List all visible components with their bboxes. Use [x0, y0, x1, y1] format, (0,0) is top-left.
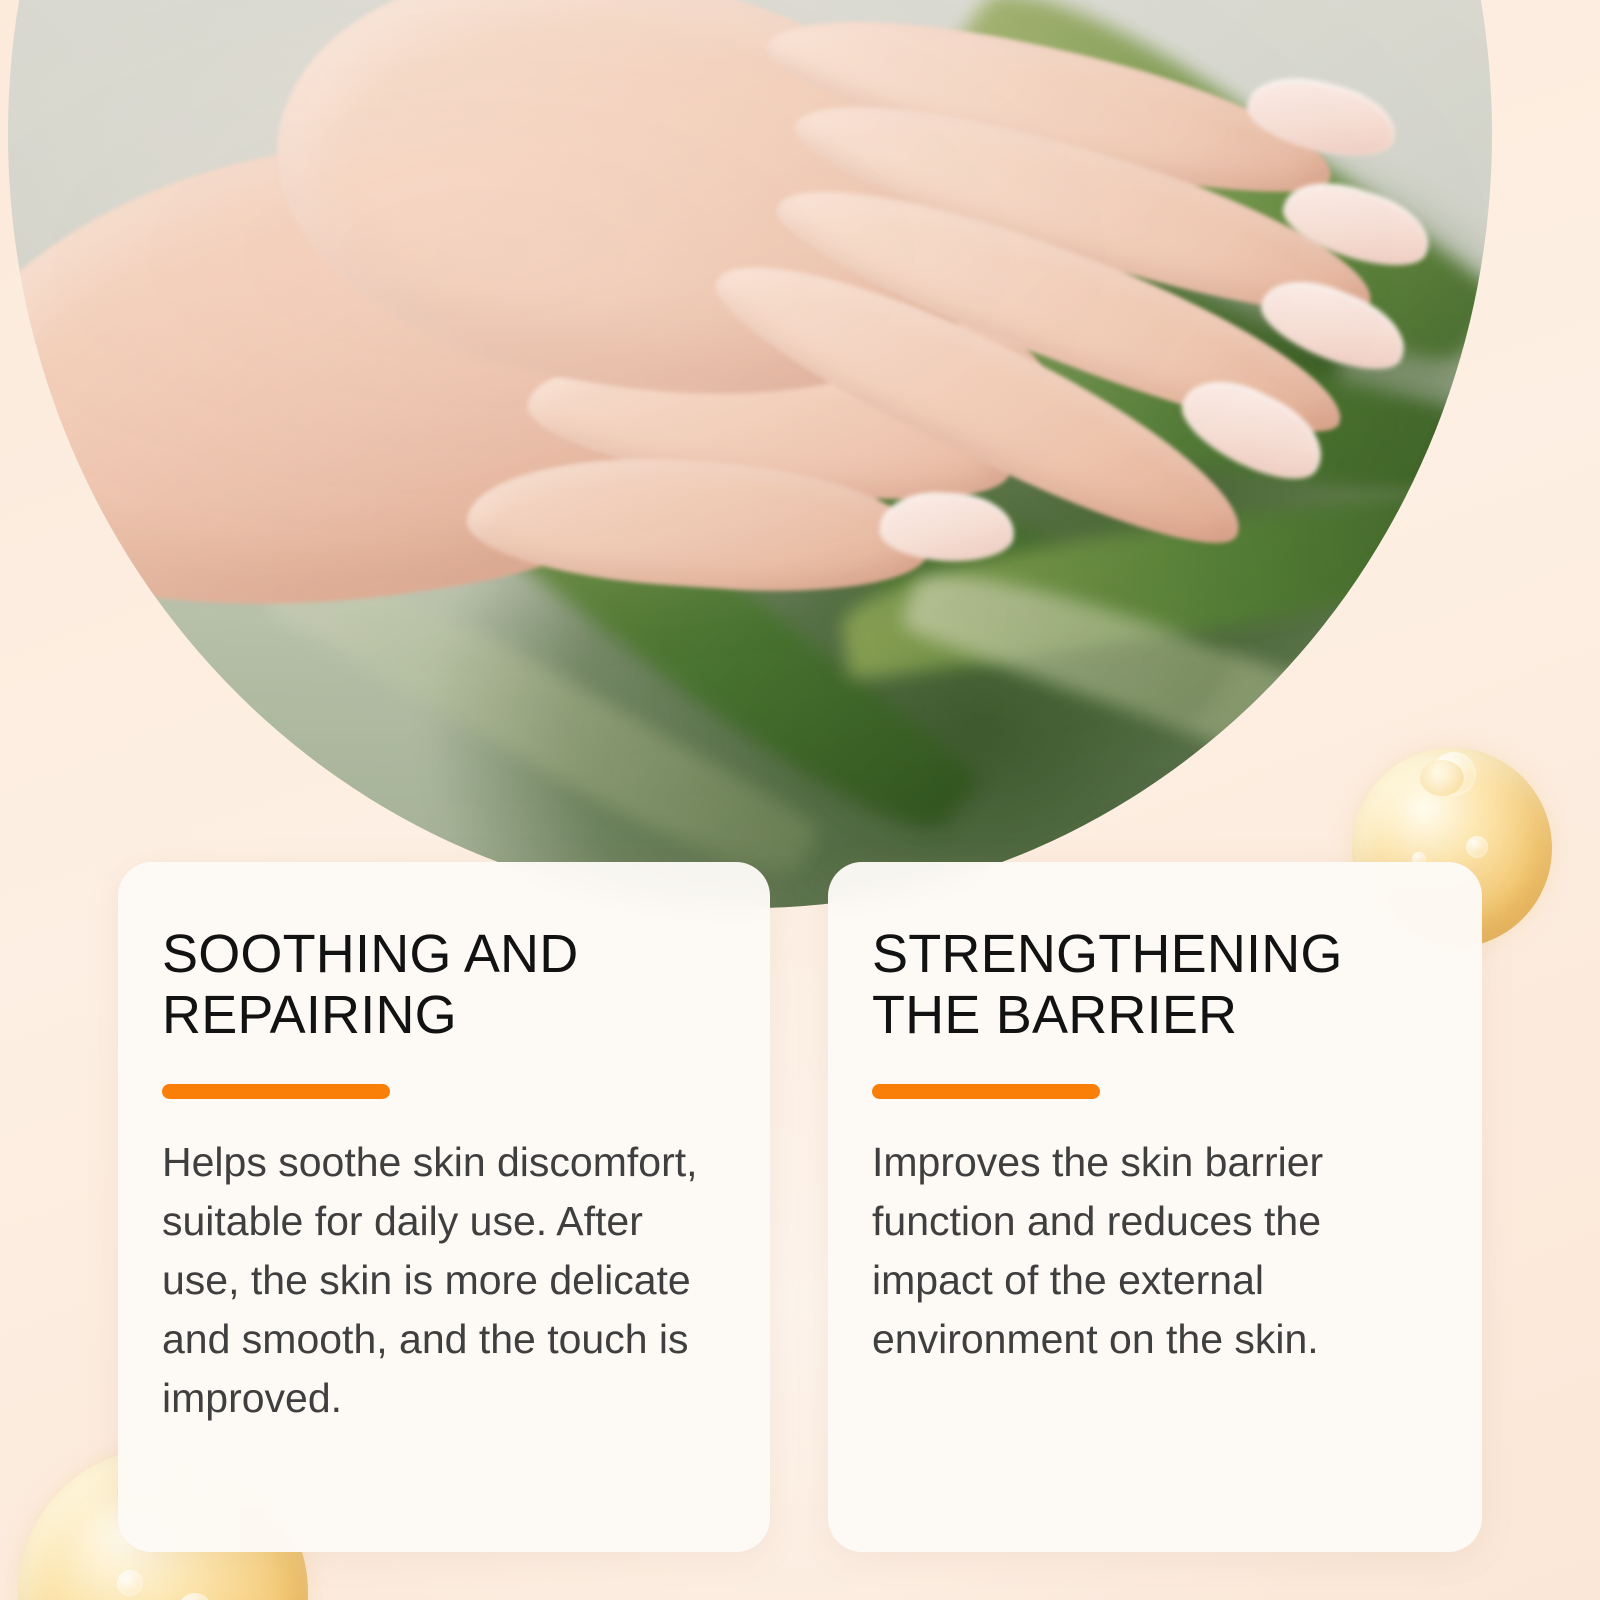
serum-bubble [1466, 836, 1488, 858]
card-body: Helps soothe skin discomfort, suitable f… [162, 1133, 726, 1428]
benefit-card-soothing-and-repairing[interactable]: SOOTHING AND REPAIRING Helps soothe skin… [118, 862, 770, 1552]
serum-bubble [178, 1593, 213, 1600]
photo-tone-overlay [8, 0, 1492, 908]
card-title: SOOTHING AND REPAIRING [162, 924, 726, 1046]
serum-bubble [117, 1570, 143, 1596]
infographic-stage: SOOTHING AND REPAIRING Helps soothe skin… [0, 0, 1600, 1600]
serum-bubble [1432, 752, 1476, 796]
accent-bar [162, 1084, 390, 1099]
benefit-card-strengthening-the-barrier[interactable]: STRENGTHENING THE BARRIER Improves the s… [828, 862, 1482, 1552]
accent-bar [872, 1084, 1100, 1099]
hero-photo [8, 0, 1492, 908]
hero-photo-ellipse-mask [8, 0, 1492, 908]
hero-photo-canvas [8, 0, 1492, 908]
card-body: Improves the skin barrier function and r… [872, 1133, 1438, 1369]
card-title: STRENGTHENING THE BARRIER [872, 924, 1438, 1046]
